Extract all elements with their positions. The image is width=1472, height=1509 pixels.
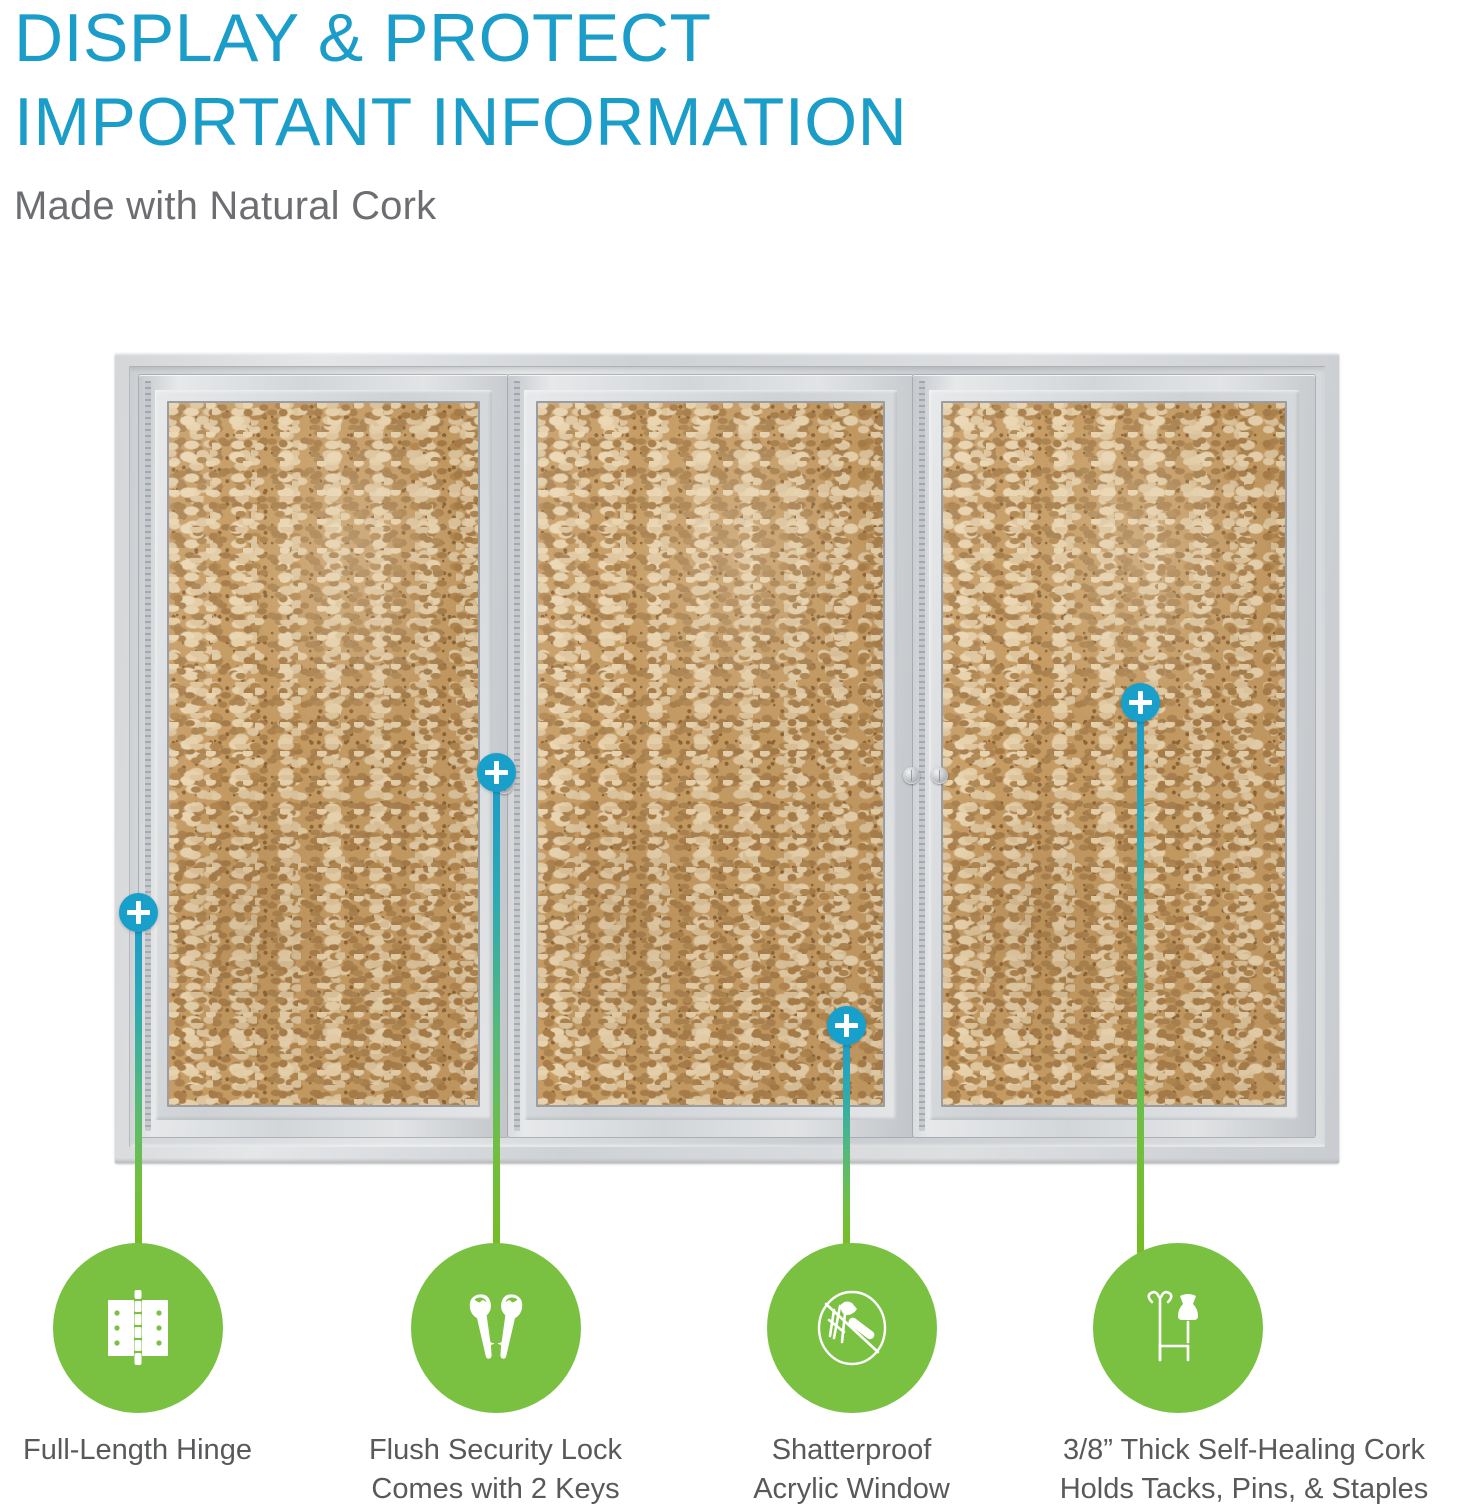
acrylic-window (536, 401, 885, 1107)
feature-caption-line-1: Full-Length Hinge (0, 1431, 275, 1470)
hinge-icon-strip-left (919, 381, 925, 1131)
pushpin-tack-icon (1126, 1276, 1230, 1380)
door-right (913, 375, 1315, 1137)
page-title-line-2: IMPORTANT INFORMATION (14, 80, 1314, 164)
acrylic-glare (943, 403, 1285, 1105)
acrylic-window (941, 401, 1287, 1107)
product-image-bulletin-board (115, 353, 1339, 1163)
acrylic-glare (169, 403, 478, 1105)
feature-caption-line-2: Holds Tacks, Pins, & Staples (1044, 1470, 1444, 1509)
hinge-icon-strip-left (514, 381, 520, 1131)
feature-item-lock[interactable]: Flush Security Lock Comes with 2 Keys (358, 1243, 633, 1509)
keys-icon (444, 1276, 548, 1380)
page-subtitle: Made with Natural Cork (14, 180, 1314, 232)
feature-circle (53, 1243, 223, 1413)
header-block: DISPLAY & PROTECT IMPORTANT INFORMATION … (14, 0, 1314, 232)
feature-caption-line-2: Acrylic Window (714, 1470, 989, 1509)
feature-circle (767, 1243, 937, 1413)
page-title-line-1: DISPLAY & PROTECT (14, 0, 1314, 80)
flush-security-lock-right[interactable] (931, 767, 948, 784)
feature-caption-line-2: Comes with 2 Keys (358, 1470, 633, 1509)
hinge-icon (86, 1276, 190, 1380)
feature-item-window[interactable]: Shatterproof Acrylic Window (714, 1243, 989, 1509)
door-center (508, 375, 913, 1137)
feature-caption-line-1: Flush Security Lock (358, 1431, 633, 1470)
no-hammer-shatterproof-icon (800, 1276, 904, 1380)
acrylic-glare (538, 403, 883, 1105)
feature-caption-line-1: Shatterproof (714, 1431, 989, 1470)
door-left (139, 375, 508, 1137)
feature-row: Full-Length Hinge Flush Se (0, 1243, 1472, 1500)
feature-item-cork[interactable]: 3/8” Thick Self-Healing Cork Holds Tacks… (1044, 1243, 1444, 1509)
hinge-icon-strip-left (145, 381, 151, 1131)
feature-circle (411, 1243, 581, 1413)
feature-item-hinge[interactable]: Full-Length Hinge (0, 1243, 275, 1470)
flush-security-lock-center[interactable] (903, 767, 920, 784)
feature-caption-line-1: 3/8” Thick Self-Healing Cork (1044, 1431, 1444, 1470)
acrylic-window (167, 401, 480, 1107)
door-group (139, 375, 1315, 1137)
feature-circle (1093, 1243, 1263, 1413)
